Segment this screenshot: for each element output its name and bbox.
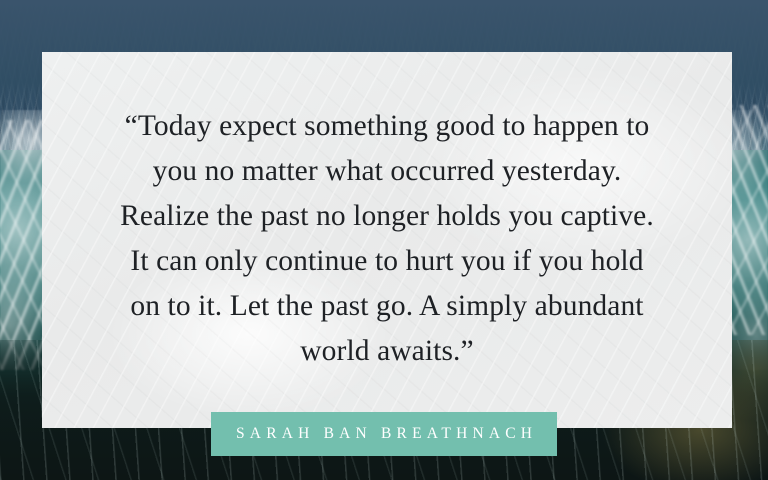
quote-line: It can only continue to hurt you if you … <box>42 239 732 284</box>
quote-line: you no matter what occurred yesterday. <box>42 149 732 194</box>
quote-line: on to it. Let the past go. A simply abun… <box>42 284 732 329</box>
author-attribution-banner: SARAH BAN BREATHNACH <box>211 412 557 456</box>
quote-graphic: “Today expect something good to happen t… <box>0 0 768 480</box>
quote-card: “Today expect something good to happen t… <box>42 52 732 428</box>
quote-line: “Today expect something good to happen t… <box>42 104 732 149</box>
quote-text: “Today expect something good to happen t… <box>42 104 732 374</box>
author-name: SARAH BAN BREATHNACH <box>231 425 537 443</box>
quote-line: world awaits.” <box>42 329 732 374</box>
quote-line: Realize the past no longer holds you cap… <box>42 194 732 239</box>
